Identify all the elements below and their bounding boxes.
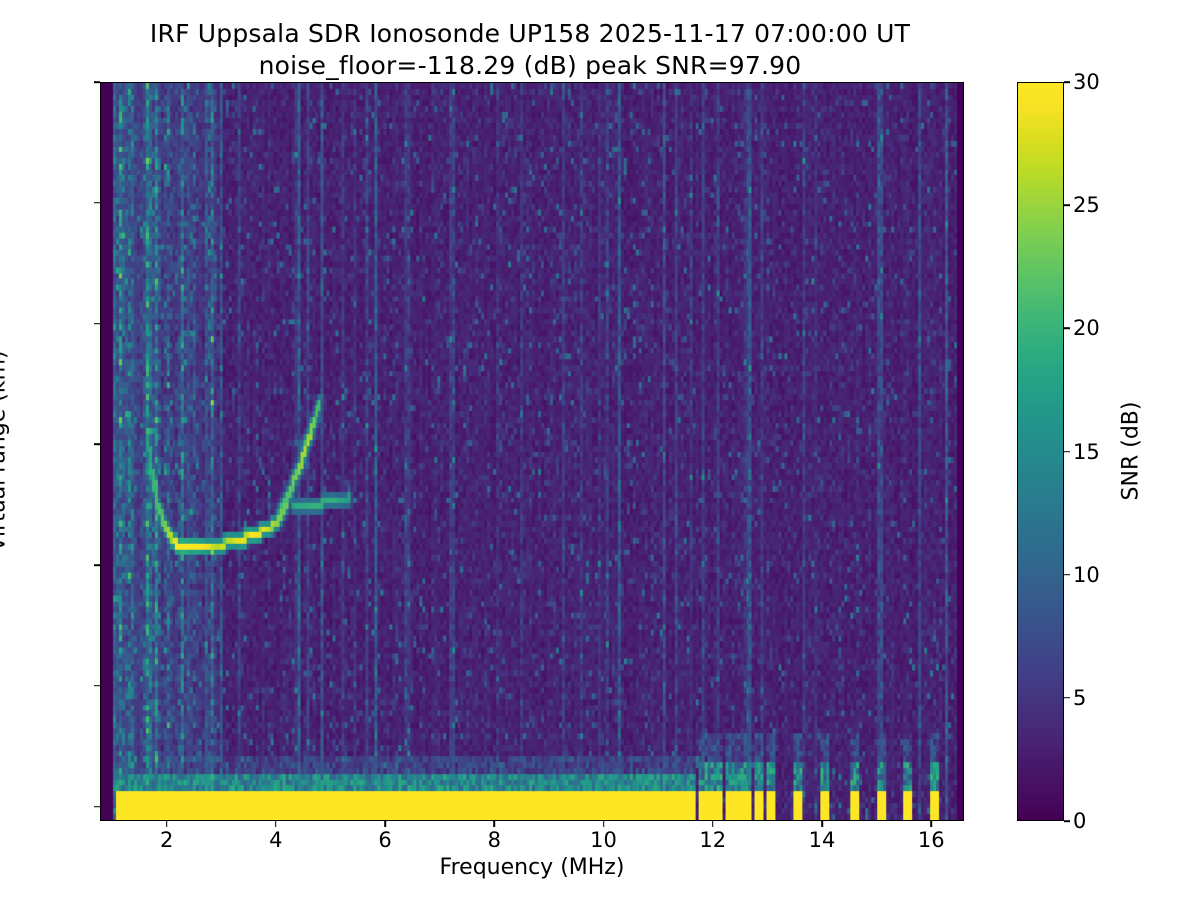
colorbar-tick-label: 0 xyxy=(1073,809,1086,833)
x-tick-label: 6 xyxy=(378,828,391,852)
colorbar-tick-label: 5 xyxy=(1073,686,1086,710)
ionogram-heatmap xyxy=(101,83,963,820)
ionogram-figure: IRF Uppsala SDR Ionosonde UP158 2025-11-… xyxy=(0,0,1200,900)
y-tick-mark xyxy=(94,81,100,83)
x-tick-label: 10 xyxy=(590,828,617,852)
colorbar-tick-mark xyxy=(1064,574,1070,576)
x-tick-label: 14 xyxy=(809,828,836,852)
colorbar xyxy=(1017,82,1064,821)
y-tick-mark xyxy=(94,323,100,325)
ionogram-plot-area xyxy=(100,82,964,821)
colorbar-tick-label: 30 xyxy=(1073,70,1100,94)
colorbar-tick-mark xyxy=(1064,451,1070,453)
x-tick-label: 4 xyxy=(269,828,282,852)
x-tick-mark xyxy=(166,821,168,827)
y-tick-mark xyxy=(94,806,100,808)
x-tick-mark xyxy=(930,821,932,827)
y-tick-mark xyxy=(94,202,100,204)
x-tick-mark xyxy=(275,821,277,827)
colorbar-tick-label: 15 xyxy=(1073,440,1100,464)
colorbar-tick-label: 25 xyxy=(1073,193,1100,217)
colorbar-gradient xyxy=(1018,83,1063,820)
y-tick-mark xyxy=(94,443,100,445)
colorbar-tick-label: 10 xyxy=(1073,563,1100,587)
colorbar-label: SNR (dB) xyxy=(1119,402,1144,501)
title-line-1: IRF Uppsala SDR Ionosonde UP158 2025-11-… xyxy=(0,18,1060,50)
y-tick-mark xyxy=(94,564,100,566)
x-tick-mark xyxy=(384,821,386,827)
x-tick-label: 16 xyxy=(918,828,945,852)
x-tick-label: 12 xyxy=(699,828,726,852)
colorbar-tick-mark xyxy=(1064,328,1070,330)
y-axis-label: Virtual range (km) xyxy=(0,350,11,551)
colorbar-tick-mark xyxy=(1064,81,1070,83)
x-tick-mark xyxy=(494,821,496,827)
x-axis-label: Frequency (MHz) xyxy=(100,855,964,880)
figure-title: IRF Uppsala SDR Ionosonde UP158 2025-11-… xyxy=(0,18,1060,82)
title-line-2: noise_floor=-118.29 (dB) peak SNR=97.90 xyxy=(0,50,1060,82)
x-tick-mark xyxy=(712,821,714,827)
colorbar-tick-mark xyxy=(1064,697,1070,699)
y-tick-mark xyxy=(94,685,100,687)
x-tick-mark xyxy=(603,821,605,827)
colorbar-tick-label: 20 xyxy=(1073,316,1100,340)
x-tick-mark xyxy=(821,821,823,827)
colorbar-tick-mark xyxy=(1064,820,1070,822)
x-tick-label: 8 xyxy=(488,828,501,852)
x-tick-label: 2 xyxy=(160,828,173,852)
colorbar-tick-mark xyxy=(1064,204,1070,206)
